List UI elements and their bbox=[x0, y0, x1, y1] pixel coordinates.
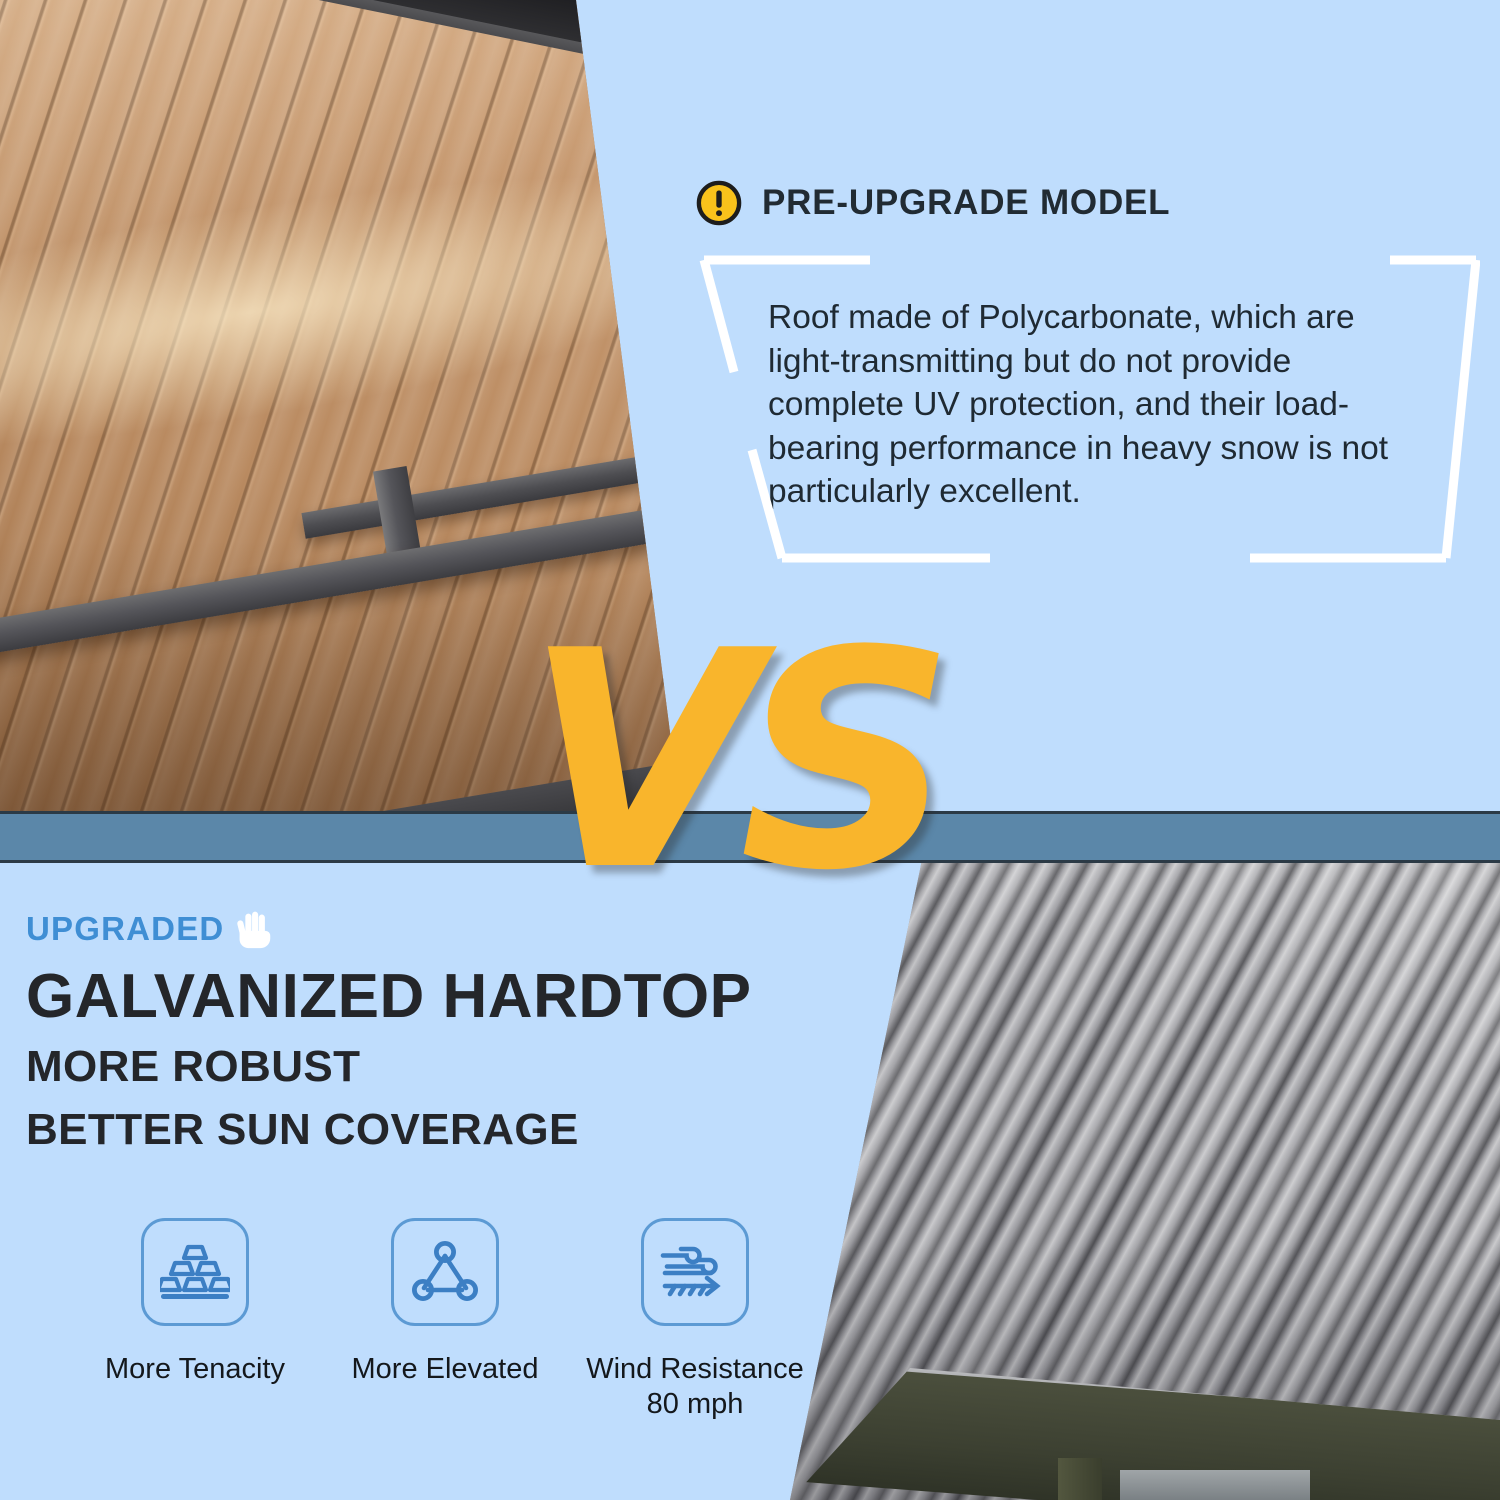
raised-hand-icon bbox=[230, 904, 276, 950]
feature-item: More Elevated bbox=[320, 1218, 570, 1423]
feature-item: Wind Resistance 80 mph bbox=[570, 1218, 820, 1423]
gold-bars-stack-icon bbox=[160, 1241, 230, 1303]
upgraded-badge: UPGRADED bbox=[26, 910, 224, 948]
infographic-canvas: VS PRE-UPGRADE MODEL bbox=[0, 0, 1500, 1500]
frame-corner-post bbox=[1058, 1458, 1102, 1500]
feature-icon-frame bbox=[141, 1218, 249, 1326]
pre-upgrade-body-text: Roof made of Polycarbonate, which are li… bbox=[768, 296, 1422, 514]
wind-lines-icon bbox=[659, 1242, 731, 1302]
pre-upgrade-panel: PRE-UPGRADE MODEL Roof made of Polycarbo… bbox=[690, 180, 1480, 560]
frame-panel bbox=[1120, 1470, 1310, 1500]
feature-item: More Tenacity bbox=[70, 1218, 320, 1423]
feature-label: Wind Resistance 80 mph bbox=[570, 1352, 820, 1423]
versus-label: VS bbox=[525, 612, 937, 912]
upgraded-subline-2: BETTER SUN COVERAGE bbox=[26, 1103, 856, 1157]
feature-label: More Elevated bbox=[352, 1352, 539, 1387]
feature-icon-frame bbox=[641, 1218, 749, 1326]
triangle-nodes-icon bbox=[411, 1240, 479, 1304]
pre-upgrade-title: PRE-UPGRADE MODEL bbox=[762, 183, 1170, 223]
pre-upgrade-quote-box: Roof made of Polycarbonate, which are li… bbox=[690, 254, 1480, 560]
feature-list: More Tenacity More Elevated bbox=[70, 1218, 860, 1423]
pre-upgrade-header: PRE-UPGRADE MODEL bbox=[696, 180, 1480, 226]
feature-icon-frame bbox=[391, 1218, 499, 1326]
warning-circle-icon bbox=[696, 180, 742, 226]
upgraded-subline-1: MORE ROBUST bbox=[26, 1040, 856, 1094]
galvanized-hardtop-photo bbox=[790, 860, 1500, 1500]
upgraded-panel: UPGRADED GALVANIZED HARDTOP MORE ROBUST … bbox=[26, 908, 856, 1157]
upgraded-headline: GALVANIZED HARDTOP bbox=[26, 964, 856, 1030]
feature-label: More Tenacity bbox=[105, 1352, 285, 1387]
